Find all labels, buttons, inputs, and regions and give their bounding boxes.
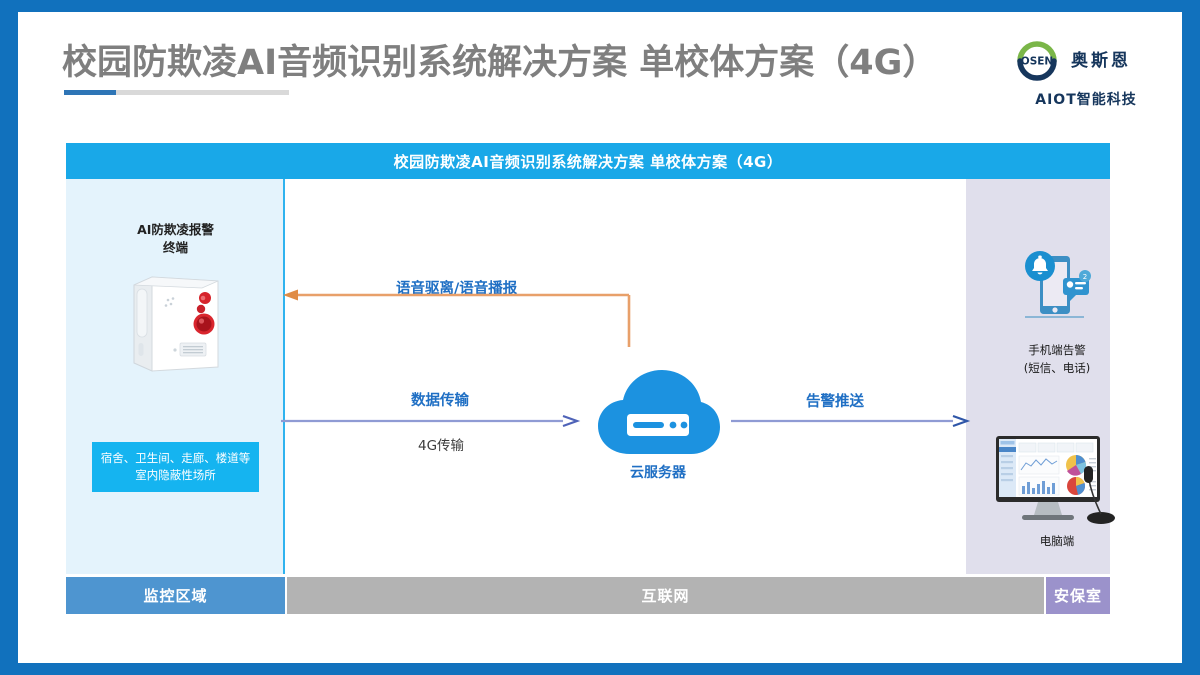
cloud-server-label: 云服务器 xyxy=(593,462,723,482)
device-label-line1: AI防欺凌报警 xyxy=(84,221,267,239)
diagram-header-title: 校园防欺凌AI音频识别系统解决方案 单校体方案（4G） xyxy=(66,143,1110,179)
device-label-line2: 终端 xyxy=(84,239,267,257)
osen-mark-text: OSEN xyxy=(1021,56,1053,68)
logo-company-name: 奥斯恩 xyxy=(1071,53,1131,70)
slide-canvas: 校园防欺凌AI音频识别系统解决方案 单校体方案（4G） OSEN 奥斯恩 AIO… xyxy=(18,12,1182,663)
cloud-server-icon xyxy=(594,364,722,460)
phone-badge-count: 2 xyxy=(1083,273,1087,281)
flow-label-data: 数据传输 xyxy=(411,389,469,410)
phone-alert-label-line2: (短信、电话) xyxy=(981,360,1133,378)
phone-alert-icon: 2 xyxy=(1013,242,1101,330)
zone-footer-security-room: 安保室 xyxy=(1046,577,1110,614)
company-logo: OSEN 奥斯恩 AIOT智能科技 xyxy=(1012,36,1160,102)
title-underline-accent xyxy=(64,90,116,95)
alarm-terminal-device-icon xyxy=(122,267,228,379)
page-title: 校园防欺凌AI音频识别系统解决方案 单校体方案（4G） xyxy=(62,34,937,85)
placement-note: 宿舍、卫生间、走廊、楼道等室内隐蔽性场所 xyxy=(92,442,259,492)
flow-arrow-data xyxy=(281,415,581,427)
flow-arrow-voice xyxy=(281,289,631,349)
zone-footer-internet: 互联网 xyxy=(287,577,1044,614)
architecture-diagram: 校园防欺凌AI音频识别系统解决方案 单校体方案（4G） AI防欺凌报警 终端 xyxy=(66,143,1110,614)
osen-circle-icon: OSEN xyxy=(1012,36,1062,86)
phone-alert-label: 手机端告警 (短信、电话) xyxy=(981,342,1133,378)
phone-alert-label-line1: 手机端告警 xyxy=(981,342,1133,360)
flow-sublabel-4g: 4G传输 xyxy=(418,434,464,454)
flow-arrow-push xyxy=(731,415,971,427)
device-label: AI防欺凌报警 终端 xyxy=(84,221,267,257)
diagram-body: AI防欺凌报警 终端 xyxy=(66,179,1110,574)
desktop-label: 电脑端 xyxy=(981,533,1133,549)
logo-tagline: AIOT智能科技 xyxy=(1012,89,1160,109)
flow-label-push: 告警推送 xyxy=(806,390,864,411)
zone-footer-monitor-area: 监控区域 xyxy=(66,577,285,614)
desktop-dashboard-icon xyxy=(988,432,1126,534)
